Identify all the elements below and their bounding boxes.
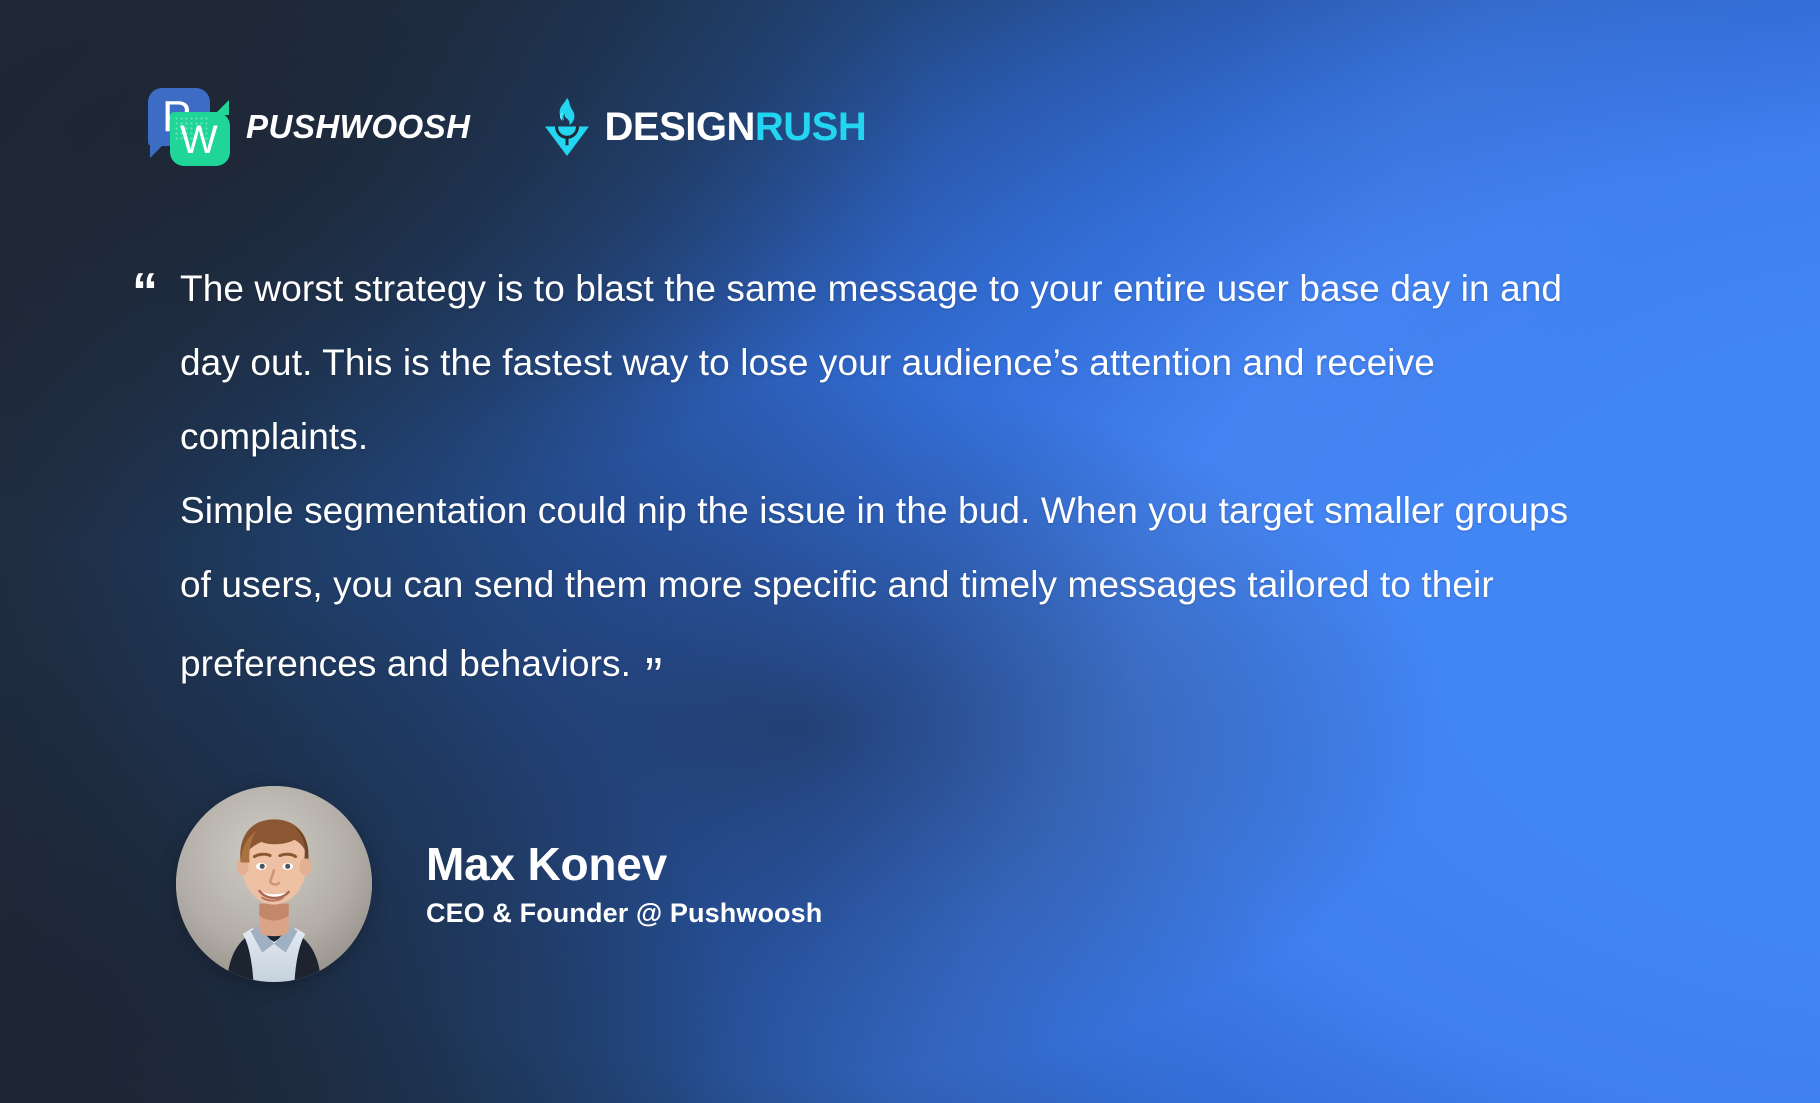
quote-open-mark: “ xyxy=(132,266,158,318)
pushwoosh-green-bubble: W xyxy=(170,112,230,166)
pushwoosh-logo: P W PUSHWOOSH xyxy=(148,88,471,166)
author-name: Max Konev xyxy=(426,839,822,890)
pushwoosh-bubbles-icon: P W xyxy=(148,88,230,166)
quote-body: The worst strategy is to blast the same … xyxy=(180,268,1568,684)
designrush-wordmark: DESIGNRUSH xyxy=(605,105,867,150)
designrush-wordmark-rush: RUSH xyxy=(755,105,866,149)
designrush-flame-icon xyxy=(543,96,591,158)
card-content: P W PUSHWOOSH DESIGN xyxy=(0,0,1820,1103)
designrush-wordmark-design: DESIGN xyxy=(605,105,755,149)
author-block: Max Konev CEO & Founder @ Pushwoosh xyxy=(176,786,822,982)
designrush-logo: DESIGNRUSH xyxy=(543,96,867,158)
avatar-portrait xyxy=(176,786,372,982)
quote-block: “ The worst strategy is to blast the sam… xyxy=(132,252,1592,701)
author-role: CEO & Founder @ Pushwoosh xyxy=(426,899,822,929)
pushwoosh-wordmark: PUSHWOOSH xyxy=(246,108,471,146)
quote-close-mark: ” xyxy=(645,640,662,714)
max-konev-avatar xyxy=(176,786,372,982)
pushwoosh-letter-w: W xyxy=(180,120,218,160)
quote-card: P W PUSHWOOSH DESIGN xyxy=(0,0,1820,1103)
logo-row: P W PUSHWOOSH DESIGN xyxy=(148,88,866,166)
quote-text: The worst strategy is to blast the same … xyxy=(180,252,1592,701)
author-text: Max Konev CEO & Founder @ Pushwoosh xyxy=(426,839,822,929)
